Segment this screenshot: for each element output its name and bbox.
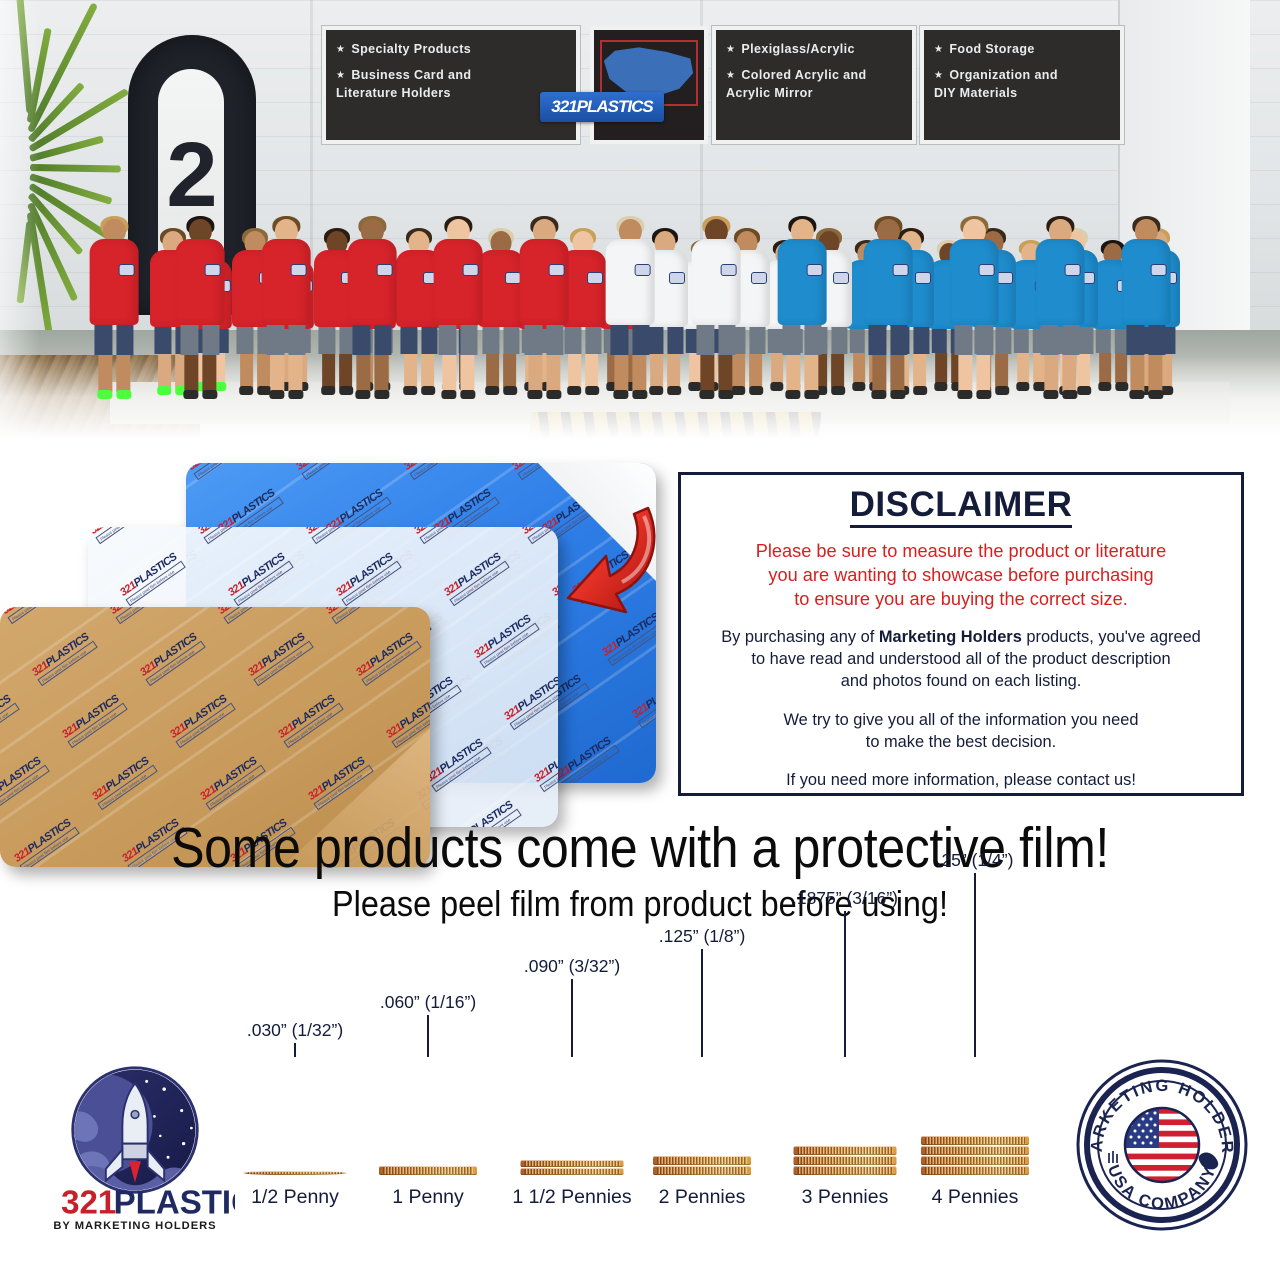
shirt-logo xyxy=(505,272,521,284)
sign-line: Business Card and Literature Holders xyxy=(336,66,568,102)
penny-coin xyxy=(379,1166,477,1175)
employee xyxy=(692,216,741,402)
shoes xyxy=(270,390,303,399)
leader-line xyxy=(294,1043,296,1057)
shirt xyxy=(348,239,397,325)
legs xyxy=(869,325,908,355)
shoes xyxy=(700,390,733,399)
penny-coin xyxy=(921,1136,1029,1145)
penny-coin xyxy=(653,1156,751,1165)
shoes xyxy=(1044,390,1077,399)
penny-stack xyxy=(379,1165,477,1175)
logo-word: PLASTICS xyxy=(114,1185,235,1222)
leader-line xyxy=(974,873,976,1057)
shirt xyxy=(520,239,569,325)
disclaimer-paragraph-2: By purchasing any of Marketing Holders p… xyxy=(695,627,1227,692)
shoes xyxy=(614,390,647,399)
leader-line xyxy=(844,911,846,1057)
lower-legs xyxy=(185,355,216,392)
thickness-label: .125” (1/8”) xyxy=(659,926,746,947)
lower-legs xyxy=(615,355,646,392)
employee xyxy=(606,216,655,402)
lower-legs xyxy=(443,355,474,392)
lower-legs xyxy=(568,354,598,388)
thickness-column: .125” (1/8”)2 Pennies xyxy=(647,979,757,1209)
shirt-logo xyxy=(204,264,220,276)
shirt-logo xyxy=(376,264,392,276)
peel-arrow-icon xyxy=(552,490,672,630)
food-storage-sign: Food Storage Organization and DIY Materi… xyxy=(920,26,1124,144)
thickness-label: .090” (3/32”) xyxy=(524,956,620,977)
shoes xyxy=(442,390,475,399)
penny-stack xyxy=(794,1145,897,1175)
shirt xyxy=(778,239,827,325)
penny-count-label: 3 Pennies xyxy=(802,1186,889,1209)
headline-secondary: Please peel film from product before usi… xyxy=(64,884,1216,924)
lower-legs xyxy=(271,355,302,392)
disclaimer-red-text: Please be sure to measure the product or… xyxy=(695,539,1227,612)
shoes xyxy=(98,390,131,399)
shirt-logo xyxy=(892,264,908,276)
disclaimer-box: DISCLAIMER Please be sure to measure the… xyxy=(678,472,1244,796)
headline-primary: Some products come with a protective fil… xyxy=(77,818,1203,878)
disclaimer-paragraph-3: We try to give you all of the informatio… xyxy=(695,710,1227,754)
specialty-products-sign: Specialty Products Business Card and Lit… xyxy=(322,26,580,144)
thickness-column: .090” (3/32”)1 1/2 Pennies xyxy=(515,979,630,1209)
legs xyxy=(400,327,437,354)
legs xyxy=(525,325,564,355)
penny-count-label: 4 Pennies xyxy=(932,1186,1019,1209)
leader-line xyxy=(701,949,703,1057)
thickness-column: .030” (1/32”)1/2 Penny xyxy=(238,979,353,1209)
employee xyxy=(176,216,225,402)
shoes xyxy=(872,390,905,399)
shoes xyxy=(403,386,435,395)
lower-legs xyxy=(873,355,904,392)
shirt-logo xyxy=(720,264,736,276)
thickness-label: .060” (1/16”) xyxy=(380,992,476,1013)
penny-count-label: 2 Pennies xyxy=(659,1186,746,1209)
sign-line: Colored Acrylic and Acrylic Mirror xyxy=(726,66,904,102)
employee xyxy=(434,216,483,402)
penny-coin xyxy=(653,1166,751,1175)
penny-count-label: 1/2 Penny xyxy=(251,1186,339,1209)
legs xyxy=(1041,325,1080,355)
legs xyxy=(1127,325,1166,355)
thickness-comparison-chart: 321 PLASTICS BY MARKETING HOLDERS xyxy=(0,955,1280,1245)
disclaimer-title: DISCLAIMER xyxy=(850,487,1073,528)
shirt-logo xyxy=(634,264,650,276)
window-banner-321plastics: 321PLASTICS xyxy=(540,92,664,122)
sign-line: Organization and DIY Materials xyxy=(934,66,1112,102)
employee xyxy=(778,216,827,402)
lower-legs xyxy=(99,355,130,392)
penny-coin xyxy=(794,1166,897,1175)
para2-before: By purchasing any of xyxy=(721,628,879,646)
shirt xyxy=(606,239,655,325)
legs xyxy=(353,325,392,355)
shirt-logo xyxy=(833,272,849,284)
shirt-logo xyxy=(548,264,564,276)
shirt xyxy=(434,239,483,325)
employee xyxy=(1036,216,1085,402)
shirt-logo xyxy=(751,272,767,284)
shirt-logo xyxy=(669,272,685,284)
penny-coin xyxy=(794,1156,897,1165)
penny-coin xyxy=(244,1171,347,1175)
leader-line xyxy=(427,1015,429,1057)
lower-legs xyxy=(959,355,990,392)
legs xyxy=(564,327,601,354)
penny-stack xyxy=(244,1170,347,1175)
legs xyxy=(439,325,478,355)
penny-stack xyxy=(653,1155,751,1175)
headline-block: Some products come with a protective fil… xyxy=(0,818,1280,924)
shoes xyxy=(567,386,599,395)
penny-count-label: 1 1/2 Pennies xyxy=(512,1186,631,1209)
shirt xyxy=(478,250,524,327)
shoes xyxy=(356,390,389,399)
employee xyxy=(950,216,999,402)
shirt-logo xyxy=(290,264,306,276)
thickness-label: .1875” (3/16”) xyxy=(792,888,898,909)
shoes xyxy=(528,390,561,399)
employee xyxy=(520,216,569,402)
lower-legs xyxy=(701,355,732,392)
lower-legs xyxy=(404,354,434,388)
usa-map-window-sign xyxy=(590,26,708,144)
shirt xyxy=(1122,239,1171,325)
shirt xyxy=(176,239,225,325)
sign-line: Plexiglass/Acrylic xyxy=(726,40,904,58)
plexiglass-sign: Plexiglass/Acrylic Colored Acrylic and A… xyxy=(712,26,916,144)
penny-coin xyxy=(921,1156,1029,1165)
thickness-label: .25” (1/4”) xyxy=(937,850,1014,871)
shoes xyxy=(485,386,517,395)
penny-coin xyxy=(921,1146,1029,1155)
para2-bold: Marketing Holders xyxy=(879,628,1022,646)
lower-legs xyxy=(1131,355,1162,392)
shoes xyxy=(1130,390,1163,399)
sign-line: Specialty Products xyxy=(336,40,568,58)
shirt-logo xyxy=(587,272,603,284)
legs xyxy=(697,325,736,355)
shirt-logo xyxy=(1150,264,1166,276)
logo-tagline: BY MARKETING HOLDERS xyxy=(53,1220,216,1232)
penny-count-label: 1 Penny xyxy=(392,1186,464,1209)
shirt-logo xyxy=(915,272,931,284)
legs xyxy=(267,325,306,355)
brand-logo-321plastics: 321 PLASTICS BY MARKETING HOLDERS xyxy=(35,1060,235,1235)
shoes xyxy=(786,390,819,399)
penny-stack xyxy=(921,1135,1029,1175)
shirt xyxy=(1036,239,1085,325)
shirt-logo xyxy=(462,264,478,276)
employee xyxy=(1122,216,1171,402)
penny-coin xyxy=(794,1146,897,1155)
team-photo: Specialty Products Business Card and Lit… xyxy=(0,0,1280,450)
legs xyxy=(783,325,822,355)
shoes xyxy=(958,390,991,399)
employee xyxy=(348,216,397,402)
thickness-column: .060” (1/16”)1 Penny xyxy=(373,979,483,1209)
legs xyxy=(611,325,650,355)
employee xyxy=(90,216,139,402)
shirt xyxy=(692,239,741,325)
logo-number: 321 xyxy=(61,1185,116,1222)
employee xyxy=(864,216,913,402)
lower-legs xyxy=(529,355,560,392)
penny-coin xyxy=(921,1166,1029,1175)
shirt xyxy=(864,239,913,325)
shirt-logo xyxy=(1064,264,1080,276)
shirt-logo xyxy=(118,264,134,276)
marketing-holders-logo: MARKETING HOLDERS USA COMPANY xyxy=(1072,1055,1252,1235)
shirt xyxy=(90,239,139,325)
shirt-logo xyxy=(806,264,822,276)
legs xyxy=(181,325,220,355)
disclaimer-paragraph-4: If you need more information, please con… xyxy=(695,770,1227,792)
lower-legs xyxy=(357,355,388,392)
shirt xyxy=(262,239,311,325)
legs xyxy=(482,327,519,354)
legs xyxy=(95,325,134,355)
shirt-logo xyxy=(978,264,994,276)
penny-stack xyxy=(521,1159,624,1175)
penny-coin xyxy=(521,1168,624,1175)
shirt-logo xyxy=(997,272,1013,284)
thickness-label: .030” (1/32”) xyxy=(247,1020,343,1041)
lower-legs xyxy=(787,355,818,392)
leader-line xyxy=(571,979,573,1057)
employee xyxy=(478,228,524,396)
sign-line: Food Storage xyxy=(934,40,1112,58)
lower-legs xyxy=(486,354,516,388)
thickness-column: .25” (1/4”)4 Pennies xyxy=(915,979,1035,1209)
penny-coin xyxy=(521,1160,624,1167)
legs xyxy=(955,325,994,355)
employee xyxy=(262,216,311,402)
shoes xyxy=(184,390,217,399)
thickness-column: .1875” (3/16”)3 Pennies xyxy=(788,979,903,1209)
lower-legs xyxy=(1045,355,1076,392)
shirt xyxy=(950,239,999,325)
